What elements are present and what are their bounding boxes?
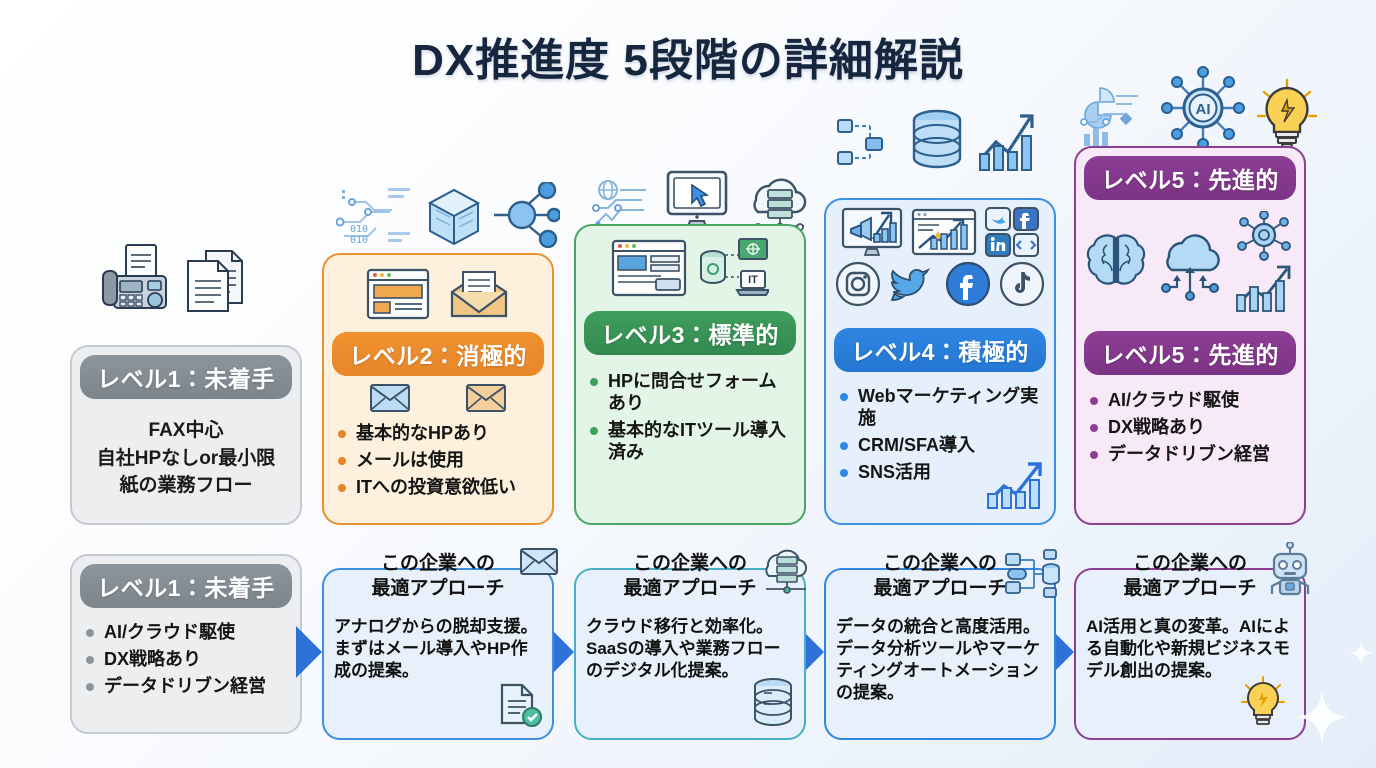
svg-text:010: 010: [350, 235, 368, 246]
bottom-level-1-bullet-2: DX戦略あり: [84, 649, 288, 671]
level-2-header: レベル2：消極的: [332, 332, 544, 376]
analytics-dashboard-icon: [911, 208, 977, 261]
documents-icon: [184, 247, 246, 315]
lightbulb-icon: [1240, 675, 1286, 732]
node-graph-icon: [492, 182, 560, 248]
webpage-form-icon: [611, 239, 687, 302]
level2-icon-cluster: 010 010: [336, 180, 560, 248]
bottom-level-1-bullets: AI/クラウド駆使 DX戦略あり データドリブン経営: [84, 622, 288, 698]
bar-chart-up-icon: [976, 108, 1038, 174]
approach-1-title: この企業への 最適アプローチ: [324, 552, 552, 601]
level-card-5[interactable]: レベル5：先進的: [1074, 146, 1306, 525]
level-4-bullet-1: Webマーケティング実施: [838, 386, 1042, 430]
level-2-bullet-3: ITへの投資意欲低い: [336, 477, 540, 499]
document-check-icon: [496, 681, 544, 734]
level-3-bullets: HPに問合せフォームあり 基本的なITツール導入済み: [588, 371, 792, 464]
approach-4-text: AI活用と真の変革。AIによる自動化や新規ビジネスモデル創出の提案。: [1086, 616, 1294, 682]
envelope-blue-icon: [370, 384, 410, 417]
bottom-level-1-header: レベル1：未着手: [80, 564, 292, 608]
approach-card-2[interactable]: この企業への 最適アプローチ クラウド移行と効率化。SaaSの導入や業務フローの…: [574, 568, 806, 740]
level-4-header: レベル4：積極的: [834, 328, 1046, 372]
level-5-bullet-2: DX戦略あり: [1088, 417, 1292, 439]
growth-chart-icon: [984, 458, 1046, 517]
level-1-line-2: 自社HPなしor最小限: [84, 445, 288, 473]
approach-1-title-line1: この企業への: [324, 552, 552, 577]
level4-top-icon-cluster: [836, 108, 1038, 174]
flow-diagram-icon: [836, 112, 898, 174]
bottom-level-card-1[interactable]: レベル1：未着手 AI/クラウド駆使 DX戦略あり データドリブン経営: [70, 554, 302, 734]
sparkle-decoration-2: [1348, 640, 1374, 666]
robot-icon: [1262, 542, 1318, 605]
level-card-2[interactable]: レベル2：消極的 基本的なHPあり メールは使用: [322, 253, 554, 525]
level-2-bullet-1: 基本的なHPあり: [336, 423, 540, 445]
level-card-4[interactable]: レベル4：積極的 Webマーケティング実施 CRM/SFA導入 SNS活用: [824, 198, 1056, 525]
database-icon: [750, 677, 796, 734]
level-5-bullet-1: AI/クラウド駆使: [1088, 390, 1292, 412]
bottom-level-1-bullet-1: AI/クラウド駆使: [84, 622, 288, 644]
level-3-bullet-2: 基本的なITツール導入済み: [588, 420, 792, 464]
level-card-1[interactable]: レベル1：未着手 FAX中心 自社HPなしor最小限 紙の業務フロー: [70, 345, 302, 525]
level2-inner-icons: [340, 265, 536, 327]
approach-card-1[interactable]: この企業への 最適アプローチ アナログからの脱却支援。まずはメール導入やHP作成…: [322, 568, 554, 740]
twitter-icon: [889, 262, 937, 311]
database-it-icon: IT: [699, 235, 769, 306]
lightbulb-icon: [1256, 78, 1318, 150]
level-3-header: レベル3：標準的: [584, 311, 796, 355]
fax-machine-icon: [100, 243, 174, 315]
approach-card-3[interactable]: この企業への 最適アプローチ データの統合と高度活用。データ分析ツールやマーケテ…: [824, 568, 1056, 740]
level-5-bullet-3: データドリブン経営: [1088, 444, 1292, 466]
instagram-icon: [835, 261, 881, 312]
level-3-bullet-1: HPに問合せフォームあり: [588, 371, 792, 415]
tiktok-icon: [999, 261, 1045, 312]
database-stack-icon: [908, 108, 966, 174]
approach-2-text: クラウド移行と効率化。SaaSの導入や業務フローのデジタル化提案。: [586, 616, 794, 682]
level-2-bullet-2: メールは使用: [336, 450, 540, 472]
level-1-header: レベル1：未着手: [80, 355, 292, 399]
approach-1-title-line2: 最適アプローチ: [324, 577, 552, 602]
data-cube-icon: [426, 186, 482, 248]
level5-inner-icons: [1086, 210, 1294, 320]
approach-3-text: データの統合と高度活用。データ分析ツールやマーケティングオートメーションの提案。: [836, 616, 1044, 704]
svg-text:AI: AI: [1196, 101, 1211, 118]
envelope-orange-icon: [466, 384, 506, 417]
level2-mail-icons: [344, 383, 532, 417]
envelope-open-icon: [448, 268, 510, 325]
cloud-server-icon: [758, 544, 808, 601]
level1-icon-cluster: [100, 243, 246, 315]
level-5-header-secondary: レベル5：先進的: [1084, 331, 1296, 375]
social-badges-icon: [985, 207, 1039, 262]
level-card-3[interactable]: IT レベル3：標準的 HPに問合せフォームあり 基本的なITツール導入済み: [574, 224, 806, 525]
brain-icon: [1085, 231, 1147, 300]
facebook-icon: [945, 261, 991, 312]
envelope-icon: [520, 548, 558, 581]
bottom-level-1-bullet-3: データドリブン経営: [84, 676, 288, 698]
level-1-line-1: FAX中心: [84, 417, 288, 445]
approach-1-text: アナログからの脱却支援。まずはメール導入やHP作成の提案。: [334, 616, 542, 682]
ai-node-icon: AI: [1160, 66, 1246, 150]
arrow-connector-1: [296, 626, 322, 678]
level-5-header-top: レベル5：先進的: [1084, 156, 1296, 200]
level4-inner-icons-row1: [834, 208, 1046, 260]
approach-card-4[interactable]: この企業への 最適アプローチ AI活用と真の変革。AIによる自動化や新規ビジネス…: [1074, 568, 1306, 740]
level-5-bullets: AI/クラウド駆使 DX戦略あり データドリブン経営: [1088, 390, 1292, 466]
gear-network-chart-icon: [1233, 211, 1295, 320]
svg-text:010: 010: [350, 224, 368, 235]
cloud-upload-icon: [1153, 225, 1227, 306]
level-4-bullet-2: CRM/SFA導入: [838, 435, 1042, 457]
level4-inner-icons-row2: [836, 262, 1044, 310]
level-2-bullets: 基本的なHPあり メールは使用 ITへの投資意欲低い: [336, 423, 540, 499]
data-flow-icon: [1004, 548, 1060, 605]
infographic-canvas: DX推進度 5段階の詳細解説: [0, 0, 1376, 768]
browser-window-icon: [366, 268, 430, 325]
pie-chart-icon: [1078, 80, 1150, 150]
level-1-line-3: 紙の業務フロー: [84, 472, 288, 500]
svg-text:IT: IT: [748, 274, 758, 286]
megaphone-monitor-icon: [841, 207, 903, 262]
level5-top-icon-cluster: AI: [1078, 66, 1318, 150]
circuit-network-icon: 010 010: [336, 180, 416, 248]
level3-inner-icons: IT: [588, 236, 792, 304]
